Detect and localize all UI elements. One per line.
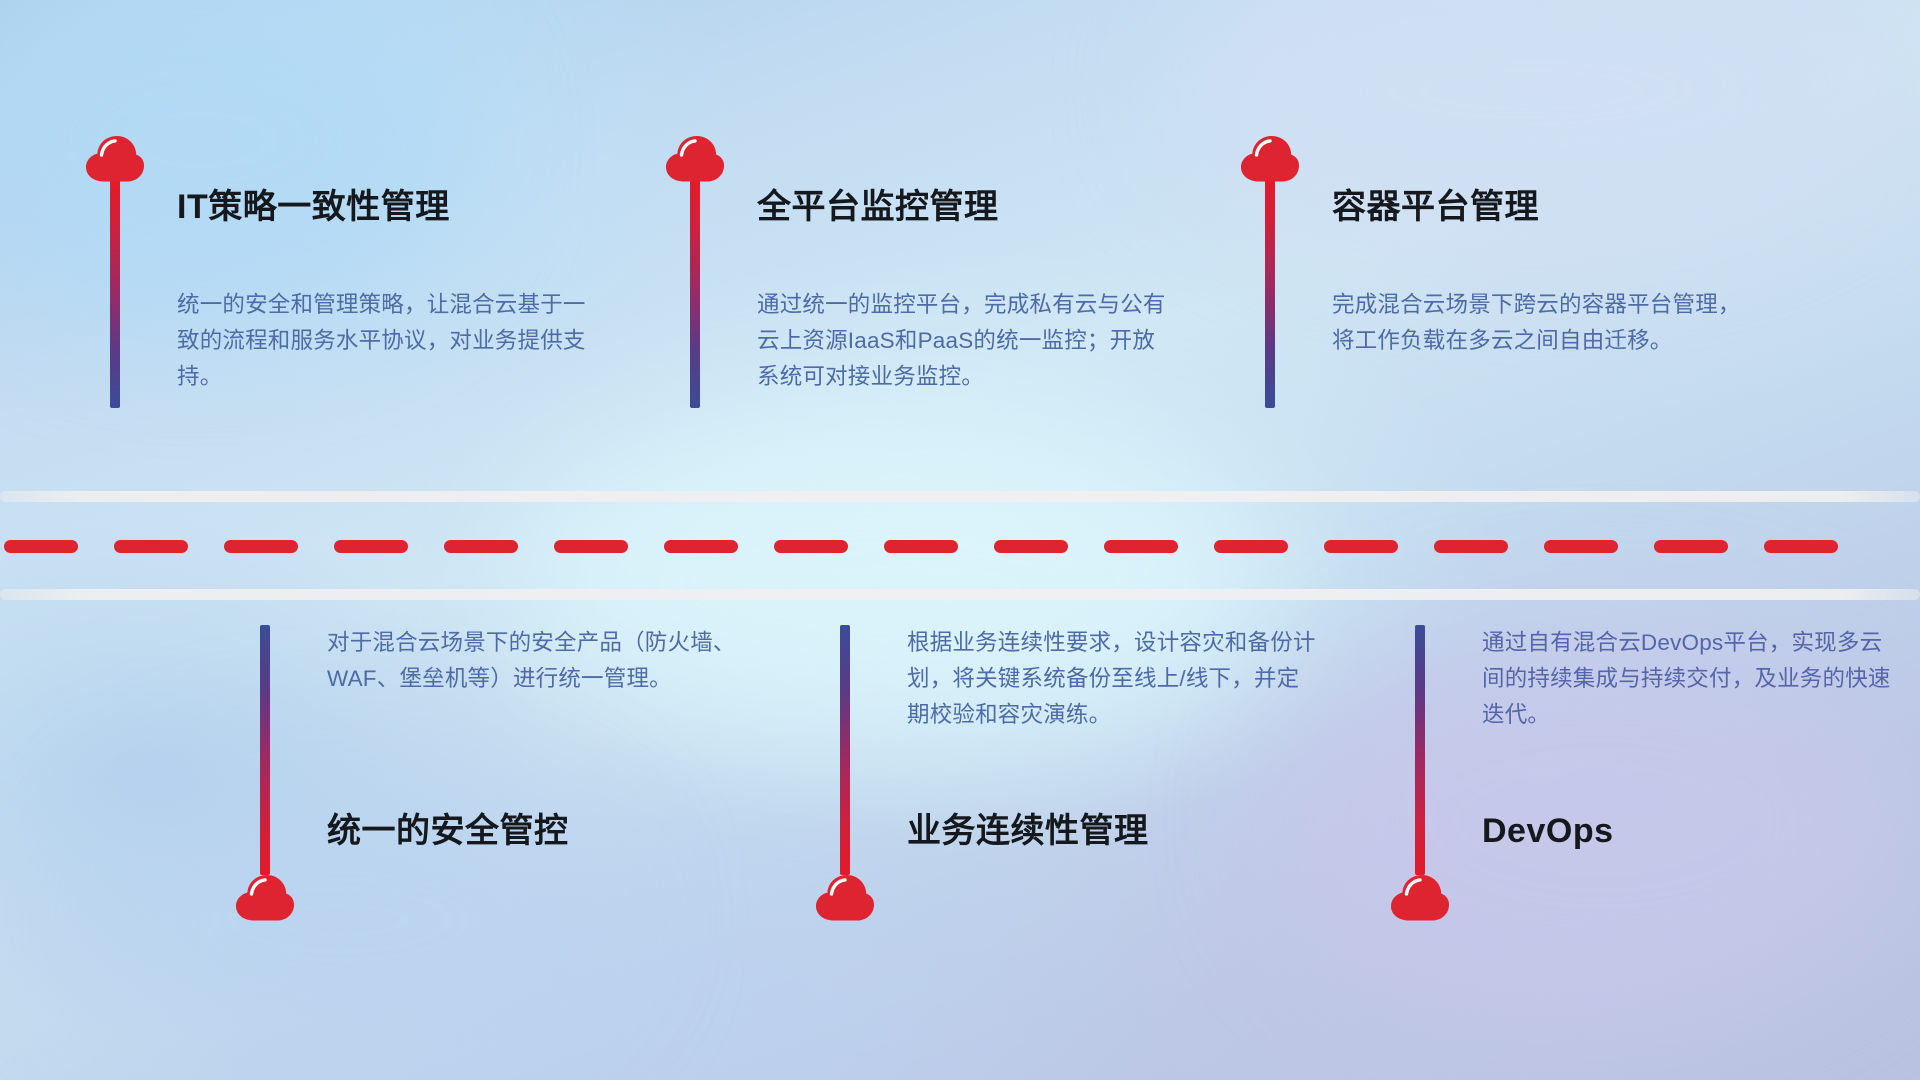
road-dash [224,540,298,553]
card-description: 对于混合云场景下的安全产品（防火墙、WAF、堡垒机等）进行统一管理。 [327,625,742,697]
card-title: 统一的安全管控 [327,812,569,851]
road-dash [1104,540,1178,553]
road-dash [1544,540,1618,553]
card-title: 业务连续性管理 [907,812,1149,851]
road-dash [334,540,408,553]
road-dash [1214,540,1288,553]
cloud-icon [814,873,876,921]
road-dashed-centerline [0,540,1920,553]
infographic-canvas: IT策略一致性管理统一的安全和管理策略，让混合云基于一致的流程和服务水平协议，对… [0,0,1920,1080]
road-dash [444,540,518,553]
road-dash [114,540,188,553]
road-dash [664,540,738,553]
road-dash [1434,540,1508,553]
road-dash [884,540,958,553]
card-description: 通过统一的监控平台，完成私有云与公有云上资源IaaS和PaaS的统一监控；开放系… [757,287,1172,395]
gradient-stem [260,625,270,875]
background-glow [0,0,460,320]
road-dash [994,540,1068,553]
road-line-lower [0,589,1920,600]
road-dash [774,540,848,553]
card-title: DevOps [1482,812,1614,851]
card-title: 容器平台管理 [1332,188,1539,227]
road-dash [4,540,78,553]
road-dash [554,540,628,553]
gradient-stem [1265,180,1275,408]
cloud-icon [1239,134,1301,182]
card-description: 根据业务连续性要求，设计容灾和备份计划，将关键系统备份至线上/线下，并定期校验和… [907,625,1322,733]
cloud-icon [84,134,146,182]
cloud-icon [234,873,296,921]
background-glow [60,760,620,1080]
card-description: 通过自有混合云DevOps平台，实现多云间的持续集成与持续交付，及业务的快速迭代… [1482,625,1897,733]
gradient-stem [1415,625,1425,875]
card-title: IT策略一致性管理 [177,188,450,227]
road-line-upper [0,491,1920,502]
road-dash [1324,540,1398,553]
road-dash [1764,540,1838,553]
card-description: 统一的安全和管理策略，让混合云基于一致的流程和服务水平协议，对业务提供支持。 [177,287,592,395]
road-dash [1654,540,1728,553]
card-description: 完成混合云场景下跨云的容器平台管理，将工作负载在多云之间自由迁移。 [1332,287,1747,359]
gradient-stem [690,180,700,408]
cloud-icon [664,134,726,182]
gradient-stem [840,625,850,875]
card-title: 全平台监控管理 [757,188,999,227]
gradient-stem [110,180,120,408]
cloud-icon [1389,873,1451,921]
